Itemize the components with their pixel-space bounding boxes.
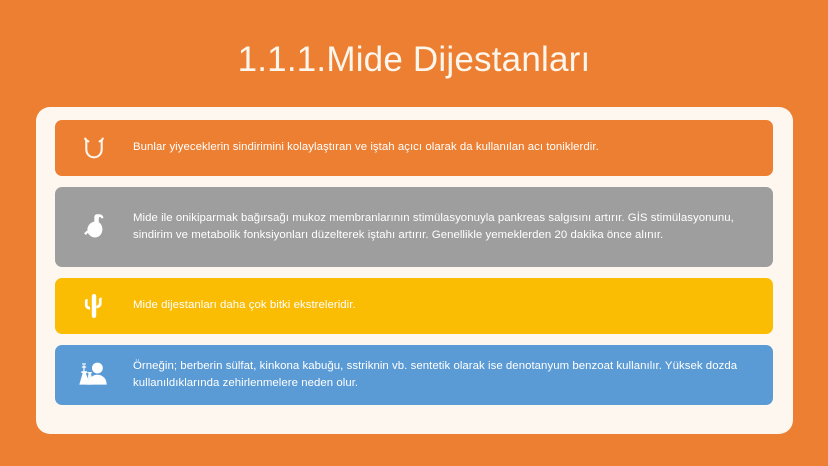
list-item[interactable]: Bunlar yiyeceklerin sindirimini kolaylaş… xyxy=(55,120,773,176)
list-item-text: Bunlar yiyeceklerin sindirimini kolaylaş… xyxy=(133,139,773,157)
scientist-flasks-icon xyxy=(55,345,133,405)
stomach-filled-icon xyxy=(55,187,133,267)
list-item-text: Örneğin; berberin sülfat, kinkona kabuğu… xyxy=(133,358,773,393)
list-item[interactable]: Örneğin; berberin sülfat, kinkona kabuğu… xyxy=(55,345,773,405)
list-item[interactable]: Mide dijestanları daha çok bitki ekstrel… xyxy=(55,278,773,334)
list-item[interactable]: Mide ile onikiparmak bağırsağı mukoz mem… xyxy=(55,187,773,267)
list-item-text: Mide dijestanları daha çok bitki ekstrel… xyxy=(133,297,773,315)
slide: 1.1.1.Mide Dijestanları Bunlar yiyecekle… xyxy=(0,0,828,466)
cactus-icon xyxy=(55,278,133,334)
content-card: Bunlar yiyeceklerin sindirimini kolaylaş… xyxy=(36,107,793,434)
stomach-outline-icon xyxy=(55,120,133,176)
page-title: 1.1.1.Mide Dijestanları xyxy=(0,38,828,82)
list-item-text: Mide ile onikiparmak bağırsağı mukoz mem… xyxy=(133,210,773,245)
